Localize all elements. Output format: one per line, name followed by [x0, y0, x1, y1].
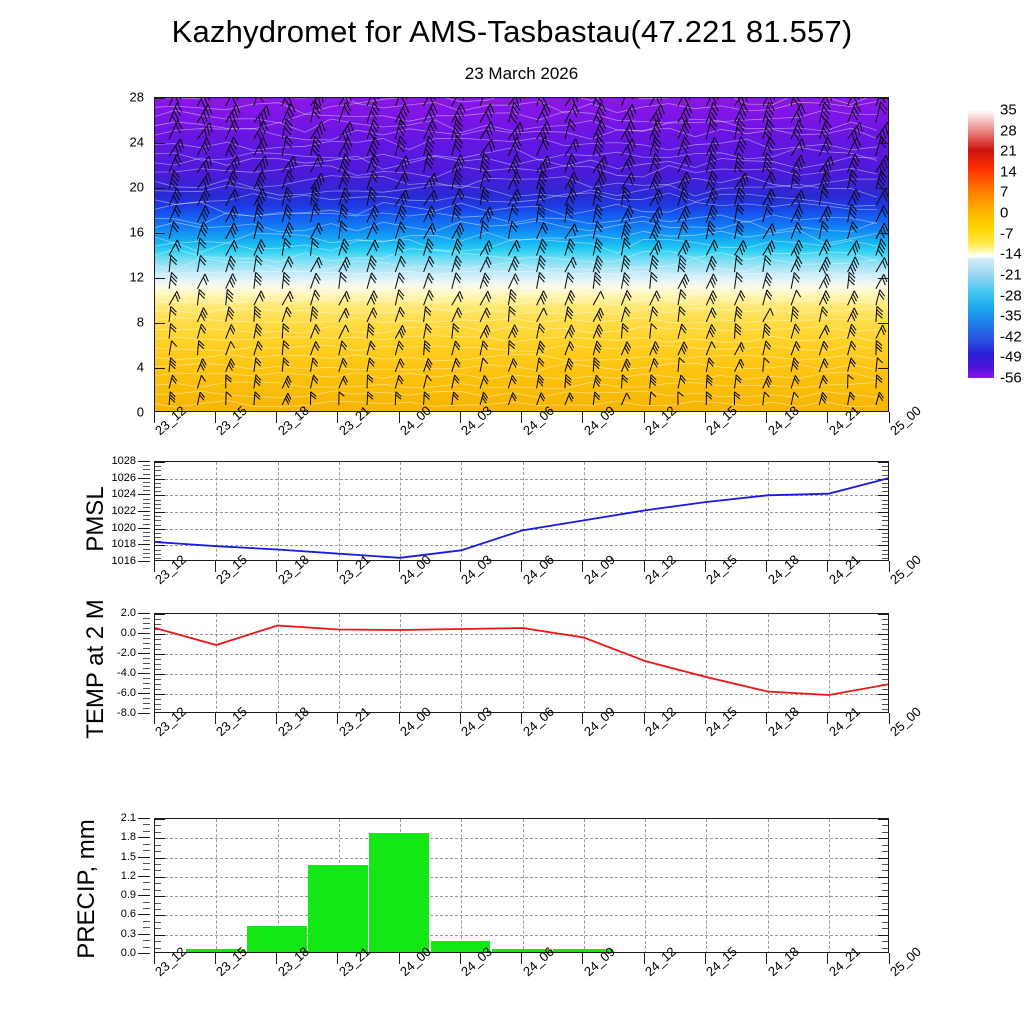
y-tick-label: 0.0: [121, 947, 136, 959]
y-tick-minor: [143, 524, 150, 525]
y-tick-minor: [143, 482, 150, 483]
y-tick-minor: [143, 678, 150, 679]
precip-bar: [369, 833, 429, 952]
y-tick-left: [155, 870, 161, 871]
precip-axis-caption: PRECIP, mm: [73, 794, 101, 984]
grid-line-horizontal: [155, 896, 888, 897]
x-tick-mark: [766, 953, 767, 964]
colorbar-tick-label: -56: [1000, 370, 1022, 387]
y-tick-minor: [143, 623, 150, 624]
grid-line-horizontal: [155, 877, 888, 878]
x-tick-mark: [215, 713, 216, 724]
y-tick-label: 4: [137, 360, 144, 375]
colorbar-tick-label: -7: [1000, 225, 1013, 242]
y-tick-left: [155, 883, 161, 884]
y-tick-left: [155, 845, 161, 846]
pmsl-series: [155, 462, 889, 561]
y-tick-right: [882, 941, 888, 942]
temperature-shading: [155, 98, 888, 411]
cross-section-y-axis: 0481216202428: [110, 97, 150, 412]
y-tick-left: [155, 851, 161, 852]
y-tick-minor: [143, 549, 150, 550]
y-tick-mark: [138, 528, 150, 529]
pmsl-x-axis: 23_1223_1523_1823_2124_0024_0324_0624_09…: [154, 561, 889, 611]
x-tick-mark: [582, 953, 583, 964]
y-tick-minor: [143, 927, 150, 928]
x-tick-mark: [521, 561, 522, 572]
x-tick-mark: [644, 953, 645, 964]
y-tick-mark: [138, 693, 150, 694]
x-tick-mark: [154, 412, 155, 423]
y-tick-label: 1.2: [121, 870, 136, 882]
y-tick-mark: [138, 818, 150, 819]
x-tick-mark: [215, 561, 216, 572]
y-tick-minor: [143, 515, 150, 516]
y-tick-minor: [143, 540, 150, 541]
y-tick-label: 24: [130, 135, 144, 150]
y-tick-minor: [143, 947, 150, 948]
page-title: Kazhydromet for AMS-Tasbastau(47.221 81.…: [0, 14, 1024, 50]
y-tick-minor: [143, 663, 150, 664]
cross-section-panel: [154, 97, 889, 412]
x-tick-mark: [705, 561, 706, 572]
colorbar-tick-label: -42: [1000, 328, 1022, 345]
x-tick-label: 25_00: [887, 944, 924, 979]
y-tick-minor: [143, 486, 150, 487]
y-tick-left: [155, 928, 161, 929]
y-tick-minor: [143, 490, 150, 491]
x-tick-mark: [154, 713, 155, 724]
y-tick-left: [155, 935, 165, 936]
colorbar-tick-labels: 3528211470-7-14-21-28-35-42-49-56: [1000, 100, 1024, 400]
y-tick-right: [878, 915, 888, 916]
x-tick-mark: [889, 561, 890, 572]
x-tick-mark: [154, 953, 155, 964]
x-tick-mark: [766, 713, 767, 724]
y-tick-minor: [143, 921, 150, 922]
y-tick-right: [882, 870, 888, 871]
y-tick-label: -4.0: [117, 667, 136, 679]
y-tick-minor: [143, 557, 150, 558]
y-tick-mark: [138, 511, 150, 512]
y-tick-right: [882, 922, 888, 923]
x-tick-mark: [827, 412, 828, 423]
grid-line-horizontal: [155, 838, 888, 839]
colorbar-tick-label: -49: [1000, 349, 1022, 366]
y-tick-right: [878, 819, 888, 820]
y-tick-right: [882, 845, 888, 846]
x-tick-mark: [399, 412, 400, 423]
y-tick-right: [878, 143, 888, 144]
x-tick-mark: [276, 412, 277, 423]
y-tick-right: [878, 368, 888, 369]
y-tick-minor: [143, 638, 150, 639]
y-tick-minor: [143, 708, 150, 709]
x-tick-mark: [582, 713, 583, 724]
y-tick-left: [155, 909, 161, 910]
y-tick-right: [878, 278, 888, 279]
y-tick-mark: [138, 561, 150, 562]
temp-y-axis: -8.0-6.0-4.0-2.00.02.0: [104, 613, 150, 713]
y-tick-minor: [143, 844, 150, 845]
y-tick-minor: [143, 831, 150, 832]
y-tick-left: [155, 877, 165, 878]
y-tick-mark: [138, 713, 150, 714]
y-tick-mark: [138, 653, 150, 654]
x-tick-mark: [399, 953, 400, 964]
y-tick-minor: [143, 519, 150, 520]
y-tick-left: [155, 838, 165, 839]
x-tick-mark: [644, 713, 645, 724]
colorbar-tick-label: -21: [1000, 266, 1022, 283]
y-tick-right: [882, 948, 888, 949]
y-tick-right: [878, 877, 888, 878]
y-tick-left: [155, 948, 161, 949]
precip-x-axis: 23_1223_1523_1823_2124_0024_0324_0624_09…: [154, 953, 889, 1008]
y-tick-minor: [143, 698, 150, 699]
x-tick-mark: [705, 412, 706, 423]
y-tick-left: [155, 890, 161, 891]
y-tick-minor: [143, 902, 150, 903]
y-tick-label: 0.0: [121, 627, 136, 639]
colorbar-tick-label: -14: [1000, 246, 1022, 263]
temp-panel: [154, 613, 889, 713]
y-tick-minor: [143, 628, 150, 629]
y-tick-right: [878, 935, 888, 936]
y-tick-label: 1024: [112, 488, 136, 500]
y-tick-minor: [143, 869, 150, 870]
x-tick-mark: [399, 713, 400, 724]
y-tick-mark: [138, 914, 150, 915]
x-tick-mark: [460, 412, 461, 423]
x-tick-mark: [276, 713, 277, 724]
y-tick-label: 16: [130, 225, 144, 240]
y-tick-minor: [143, 850, 150, 851]
x-tick-mark: [521, 713, 522, 724]
y-tick-minor: [143, 683, 150, 684]
y-tick-label: 8: [137, 315, 144, 330]
y-tick-mark: [138, 544, 150, 545]
y-tick-left: [155, 233, 165, 234]
y-tick-right: [878, 858, 888, 859]
y-tick-label: 0: [137, 405, 144, 420]
colorbar-tick-label: 14: [1000, 163, 1017, 180]
x-tick-label: 25_00: [887, 552, 924, 587]
x-tick-mark: [766, 561, 767, 572]
y-tick-left: [155, 915, 165, 916]
y-tick-minor: [143, 658, 150, 659]
x-tick-mark: [154, 561, 155, 572]
y-tick-minor: [143, 469, 150, 470]
y-tick-minor: [143, 889, 150, 890]
y-tick-minor: [143, 688, 150, 689]
y-tick-right: [882, 928, 888, 929]
x-tick-mark: [337, 953, 338, 964]
y-tick-left: [155, 941, 161, 942]
x-tick-mark: [337, 713, 338, 724]
y-tick-minor: [143, 908, 150, 909]
y-tick-left: [155, 825, 161, 826]
y-tick-left: [155, 922, 161, 923]
y-tick-left: [155, 864, 161, 865]
y-tick-label: 0.3: [121, 928, 136, 940]
x-tick-mark: [766, 412, 767, 423]
x-tick-mark: [582, 561, 583, 572]
colorbar-tick-label: 7: [1000, 184, 1008, 201]
colorbar-gradient: [968, 110, 994, 378]
y-tick-left: [155, 188, 165, 189]
pmsl-y-axis: 1016101810201022102410261028: [104, 461, 150, 561]
y-tick-label: -8.0: [117, 707, 136, 719]
x-tick-mark: [337, 561, 338, 572]
y-tick-minor: [143, 553, 150, 554]
x-tick-mark: [705, 953, 706, 964]
colorbar-tick-label: 28: [1000, 122, 1017, 139]
y-tick-minor: [143, 503, 150, 504]
x-tick-mark: [276, 561, 277, 572]
x-tick-mark: [889, 953, 890, 964]
y-tick-left: [155, 819, 165, 820]
y-tick-mark: [138, 857, 150, 858]
y-tick-minor: [143, 532, 150, 533]
x-tick-mark: [582, 412, 583, 423]
y-tick-minor: [143, 474, 150, 475]
x-tick-label: 25_00: [887, 704, 924, 739]
y-tick-right: [882, 909, 888, 910]
y-tick-right: [882, 825, 888, 826]
x-tick-mark: [827, 953, 828, 964]
y-tick-minor: [143, 940, 150, 941]
colorbar-tick-label: -35: [1000, 308, 1022, 325]
y-tick-right: [878, 838, 888, 839]
x-tick-mark: [337, 412, 338, 423]
y-tick-right: [878, 98, 888, 99]
y-tick-label: -2.0: [117, 647, 136, 659]
y-tick-right: [882, 883, 888, 884]
y-tick-right: [878, 188, 888, 189]
grid-line-horizontal: [155, 858, 888, 859]
y-tick-label: 1026: [112, 472, 136, 484]
colorbar-tick-label: 21: [1000, 143, 1017, 160]
x-tick-mark: [644, 412, 645, 423]
y-tick-label: 2.0: [121, 607, 136, 619]
precip-panel: [154, 818, 889, 953]
page-subtitle: 23 March 2026: [154, 64, 889, 84]
y-tick-right: [882, 890, 888, 891]
precip-bar: [308, 865, 368, 952]
y-tick-right: [882, 903, 888, 904]
y-tick-right: [882, 851, 888, 852]
y-tick-label: 28: [130, 90, 144, 105]
x-tick-mark: [276, 953, 277, 964]
x-tick-mark: [889, 412, 890, 423]
y-tick-label: 12: [130, 270, 144, 285]
precip-y-axis: 0.00.30.60.91.21.51.82.1: [104, 818, 150, 953]
y-tick-mark: [138, 934, 150, 935]
y-tick-minor: [143, 703, 150, 704]
y-tick-mark: [138, 953, 150, 954]
y-tick-minor: [143, 668, 150, 669]
x-tick-mark: [460, 953, 461, 964]
y-tick-right: [882, 832, 888, 833]
x-tick-mark: [521, 412, 522, 423]
y-tick-minor: [143, 499, 150, 500]
y-tick-left: [155, 858, 165, 859]
y-tick-right: [878, 233, 888, 234]
y-tick-label: 2.1: [121, 812, 136, 824]
x-tick-mark: [215, 953, 216, 964]
y-tick-minor: [143, 643, 150, 644]
y-tick-left: [155, 903, 161, 904]
y-tick-mark: [138, 613, 150, 614]
y-tick-label: 1.5: [121, 851, 136, 863]
grid-line-horizontal: [155, 915, 888, 916]
y-tick-minor: [143, 863, 150, 864]
y-tick-mark: [138, 633, 150, 634]
y-tick-mark: [138, 837, 150, 838]
x-tick-mark: [460, 561, 461, 572]
y-tick-left: [155, 368, 165, 369]
y-tick-mark: [138, 461, 150, 462]
y-tick-mark: [138, 494, 150, 495]
x-tick-mark: [399, 561, 400, 572]
x-tick-mark: [644, 561, 645, 572]
y-tick-right: [878, 896, 888, 897]
colorbar-tick-label: -28: [1000, 287, 1022, 304]
y-tick-minor: [143, 507, 150, 508]
x-tick-mark: [460, 713, 461, 724]
y-tick-right: [878, 323, 888, 324]
y-tick-mark: [138, 895, 150, 896]
temp-x-axis: 23_1223_1523_1823_2124_0024_0324_0624_09…: [154, 713, 889, 763]
x-tick-mark: [827, 713, 828, 724]
temp-2m-series: [155, 614, 889, 713]
y-tick-mark: [138, 673, 150, 674]
y-tick-left: [155, 98, 165, 99]
colorbar-tick-label: 0: [1000, 205, 1008, 222]
y-tick-minor: [143, 618, 150, 619]
x-tick-label: 25_00: [887, 403, 924, 438]
y-tick-label: 1028: [112, 455, 136, 467]
x-tick-mark: [705, 713, 706, 724]
y-tick-label: 1022: [112, 505, 136, 517]
x-tick-mark: [889, 713, 890, 724]
y-tick-left: [155, 278, 165, 279]
y-tick-left: [155, 143, 165, 144]
y-tick-label: 1020: [112, 522, 136, 534]
y-tick-left: [155, 323, 165, 324]
x-tick-mark: [215, 412, 216, 423]
y-tick-label: 1.8: [121, 831, 136, 843]
y-tick-left: [155, 896, 165, 897]
x-tick-mark: [521, 953, 522, 964]
colorbar-tick-label: 35: [1000, 102, 1017, 119]
y-tick-label: 1016: [112, 555, 136, 567]
y-tick-label: -6.0: [117, 687, 136, 699]
y-tick-mark: [138, 478, 150, 479]
y-tick-minor: [143, 824, 150, 825]
y-tick-left: [155, 832, 161, 833]
x-tick-mark: [827, 561, 828, 572]
y-tick-label: 0.9: [121, 889, 136, 901]
colorbar: [968, 110, 994, 378]
y-tick-minor: [143, 648, 150, 649]
y-tick-minor: [143, 882, 150, 883]
y-tick-label: 1018: [112, 538, 136, 550]
y-tick-right: [882, 864, 888, 865]
y-tick-label: 20: [130, 180, 144, 195]
y-tick-minor: [143, 465, 150, 466]
y-tick-label: 0.6: [121, 908, 136, 920]
pmsl-panel: [154, 461, 889, 561]
y-tick-minor: [143, 536, 150, 537]
y-tick-mark: [138, 876, 150, 877]
